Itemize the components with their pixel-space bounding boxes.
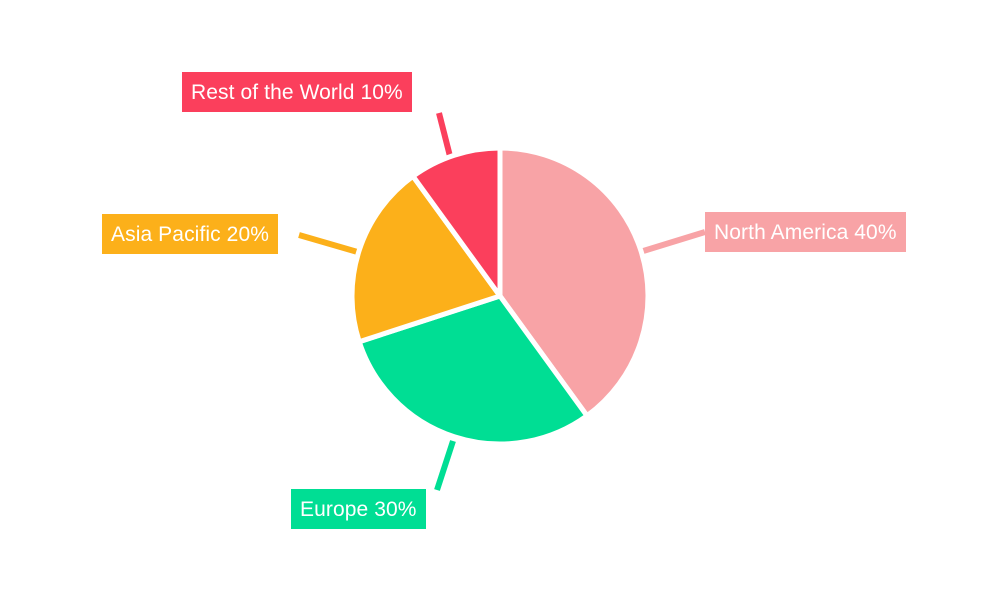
leader-line-asia-pacific — [299, 235, 361, 253]
pie-label-asia-pacific-text: Asia Pacific 20% — [111, 224, 269, 245]
leader-line-north-america — [640, 232, 705, 252]
pie-label-rest-of-world[interactable]: Rest of the World 10% — [182, 72, 412, 112]
pie-chart-svg — [0, 0, 1000, 600]
pie-label-asia-pacific[interactable]: Asia Pacific 20% — [102, 214, 278, 254]
leader-line-europe — [437, 441, 453, 490]
pie-chart-container: North America 40% Europe 30% Asia Pacifi… — [0, 0, 1000, 600]
pie-label-north-america-text: North America 40% — [714, 222, 897, 243]
pie-slices — [352, 148, 648, 444]
pie-label-north-america[interactable]: North America 40% — [705, 212, 906, 252]
pie-label-europe-text: Europe 30% — [300, 499, 417, 520]
pie-label-europe[interactable]: Europe 30% — [291, 489, 426, 529]
pie-label-rest-of-world-text: Rest of the World 10% — [191, 82, 403, 103]
